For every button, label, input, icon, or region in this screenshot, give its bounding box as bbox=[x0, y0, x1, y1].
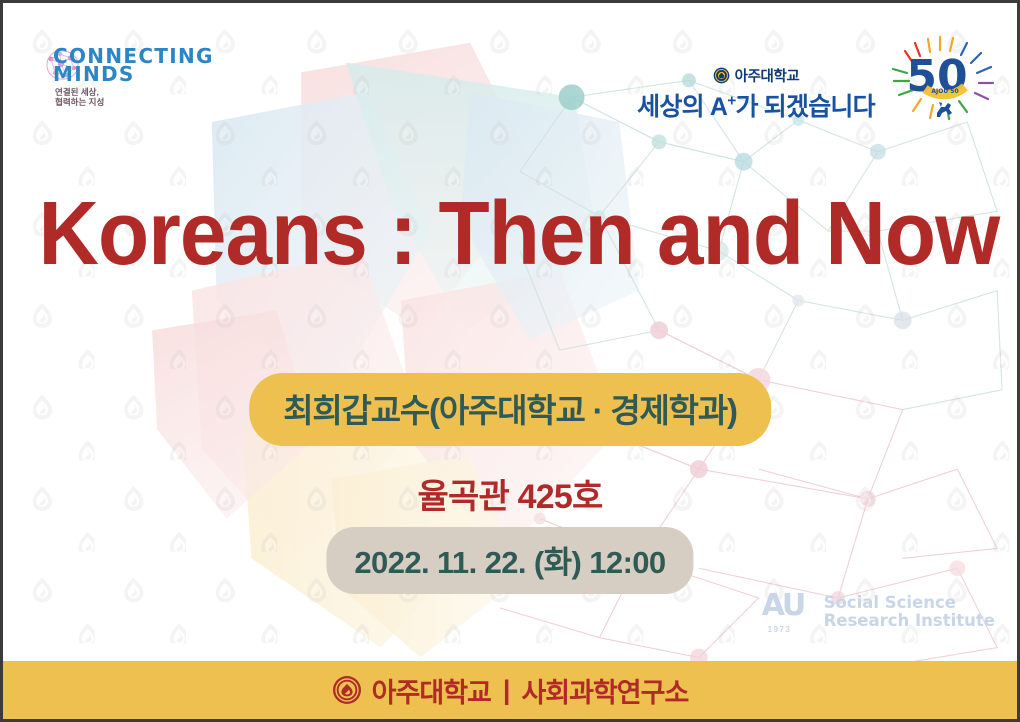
ajou-name-row: 아주대학교 bbox=[611, 65, 901, 86]
horse-icon bbox=[937, 102, 952, 117]
ajou-slogan: 세상의 A+가 되겠습니다 bbox=[611, 87, 901, 123]
venue-text: 율곡관 425호 bbox=[3, 469, 1017, 518]
ajou-footer-seal-icon bbox=[332, 675, 362, 705]
footer-university: 아주대학교 bbox=[372, 671, 491, 710]
event-poster: CONNECTING MINDS 연결된 세상, 협력하는 지성 아주대학교 세… bbox=[0, 0, 1020, 722]
ssri-name: Social Science Research Institute bbox=[824, 594, 995, 631]
ajou-slogan-before: 세상의 A bbox=[637, 93, 727, 121]
ssri-logo: AU 1973 Social Science Research Institut… bbox=[762, 591, 995, 633]
footer-institute: 사회과학연구소 bbox=[521, 671, 688, 710]
au-mark-icon: AU 1973 bbox=[762, 591, 816, 633]
page-title: Koreans : Then and Now bbox=[38, 189, 981, 279]
speaker-badge: 최희갑교수(아주대학교 · 경제학과) bbox=[249, 373, 771, 446]
ajou-university-name: 아주대학교 bbox=[735, 65, 800, 86]
ssri-line2: Research Institute bbox=[824, 612, 995, 630]
connecting-minds-subtitle: 연결된 세상, 협력하는 지성 bbox=[55, 87, 104, 107]
footer-bar: 아주대학교 | 사회과학연구소 bbox=[3, 661, 1017, 719]
50th-anniversary-logo: 50 AJOU 50 bbox=[885, 33, 1003, 123]
ajou-university-logo: 아주대학교 세상의 A+가 되겠습니다 bbox=[611, 65, 901, 123]
ajou-slogan-after: 가 되겠습니다 bbox=[735, 93, 874, 121]
datetime-badge: 2022. 11. 22. (화) 12:00 bbox=[326, 527, 693, 594]
anniversary-ribbon: AJOU 50 bbox=[931, 88, 958, 95]
au-year: 1973 bbox=[768, 625, 792, 634]
footer-divider: | bbox=[501, 675, 512, 706]
connecting-minds-logo: CONNECTING MINDS 연결된 세상, 협력하는 지성 bbox=[39, 43, 219, 109]
ajou-seal-icon bbox=[713, 67, 730, 84]
ssri-line1: Social Science bbox=[824, 594, 995, 612]
connecting-minds-line2: MINDS bbox=[53, 65, 214, 83]
au-letters: AU bbox=[762, 588, 805, 623]
